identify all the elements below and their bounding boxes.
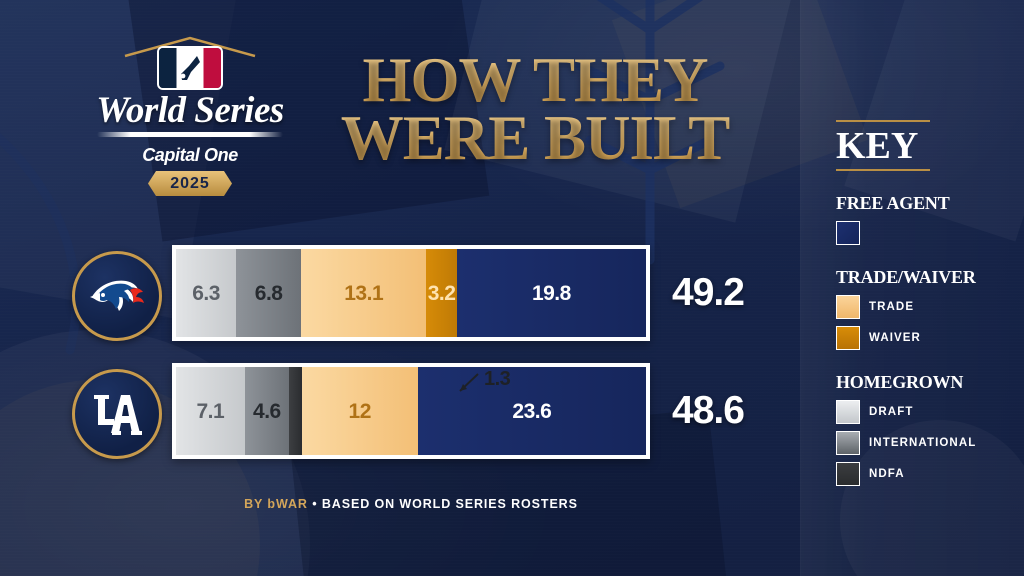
bar-segment-free-agent: 23.6 [418,367,646,455]
swatch-ndfa [836,462,860,486]
world-series-wordmark: World Series [80,92,300,129]
dodgers-logo [72,369,162,459]
key-panel: KEY FREE AGENT TRADE/WAIVER TRADE WAIVER… [836,120,1016,493]
stacked-bar-chart: 6.3 6.8 13.1 3.2 19.8 49.2 [60,245,790,481]
title-line-1: HOW THEY [300,52,770,110]
bar-segment-waiver: 3.2 [426,249,457,337]
bar-segment-free-agent: 19.8 [457,249,646,337]
world-series-logo: World Series Capital One 2025 [80,48,300,198]
key-group-heading: HOMEGROWN [836,372,1016,393]
bar-segment-international: 4.6 [245,367,290,455]
key-group-free-agent: FREE AGENT [836,193,1016,245]
swatch-draft [836,400,860,424]
swatch-trade [836,295,860,319]
bar-segment-trade: 13.1 [301,249,426,337]
swatch-international [836,431,860,455]
year-label: 2025 [170,175,210,193]
sponsor-logo: Capital One [142,145,238,166]
key-item-draft: DRAFT [836,400,1016,424]
total-value: 49.2 [672,271,744,315]
bar-dodgers: 7.1 4.6 12 23.6 1.3 [172,363,650,459]
blue-jays-logo [72,251,162,341]
key-item-free-agent [836,221,1016,245]
bar-segments: 6.3 6.8 13.1 3.2 19.8 [176,249,646,337]
total-value: 48.6 [672,389,744,433]
key-heading: KEY [836,127,1016,165]
title-line-2: WERE BUILT [300,110,770,168]
key-group-heading: FREE AGENT [836,193,1016,214]
bar-segment-trade: 12 [302,367,418,455]
key-rule-bottom [836,169,930,171]
key-item-label: NDFA [869,468,905,480]
bar-segments: 7.1 4.6 12 23.6 [176,367,646,455]
footnote: BY bWAR • BASED ON WORLD SERIES ROSTERS [172,497,650,511]
bar-blue-jays: 6.3 6.8 13.1 3.2 19.8 [172,245,650,341]
bar-segment-draft: 6.3 [176,249,236,337]
key-item-international: INTERNATIONAL [836,431,1016,455]
key-rule-top [836,120,930,122]
key-item-label: TRADE [869,301,914,313]
key-item-trade: TRADE [836,295,1016,319]
footnote-source: BY bWAR [244,497,308,511]
chart-row-dodgers: 7.1 4.6 12 23.6 1.3 48.6 [60,363,790,459]
key-item-label: WAIVER [869,332,921,344]
key-item-label: DRAFT [869,406,913,418]
footnote-detail: • BASED ON WORLD SERIES ROSTERS [312,497,578,511]
total-blue-jays: 49.2 [672,245,744,341]
swatch-free-agent [836,221,860,245]
mlb-logo-icon [159,48,221,88]
bar-segment-ndfa [289,367,302,455]
chart-row-blue-jays: 6.3 6.8 13.1 3.2 19.8 49.2 [60,245,790,341]
total-dodgers: 48.6 [672,363,744,459]
year-banner: 2025 [148,171,232,196]
key-group-trade-waiver: TRADE/WAIVER TRADE WAIVER [836,267,1016,350]
key-group-heading: TRADE/WAIVER [836,267,1016,288]
infographic-canvas: World Series Capital One 2025 HOW THEY W… [0,0,1024,576]
key-group-homegrown: HOMEGROWN DRAFT INTERNATIONAL NDFA [836,372,1016,486]
bar-segment-draft: 7.1 [176,367,245,455]
bar-segment-international: 6.8 [236,249,301,337]
key-item-label: INTERNATIONAL [869,437,976,449]
key-item-ndfa: NDFA [836,462,1016,486]
page-title: HOW THEY WERE BUILT [300,52,770,168]
swatch-waiver [836,326,860,350]
key-item-waiver: WAIVER [836,326,1016,350]
